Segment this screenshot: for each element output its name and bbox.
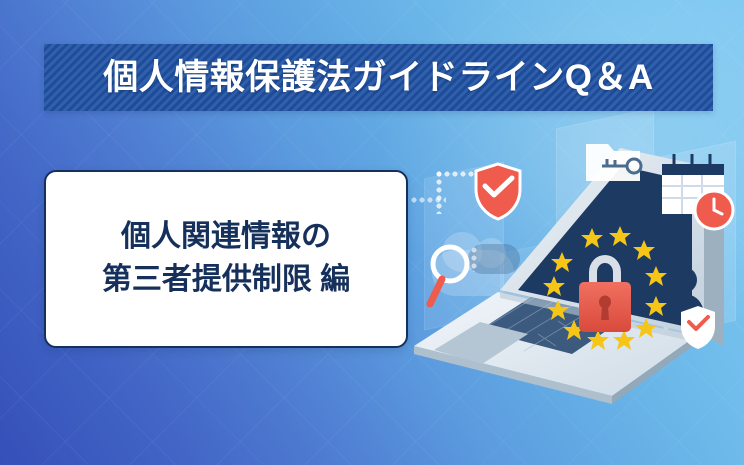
shield-check-icon xyxy=(476,164,520,219)
subtitle-line-1: 個人関連情報の xyxy=(121,216,331,259)
promo-banner-stage: 個人情報保護法ガイドラインQ＆A 個人関連情報の 第三者提供制限 編 xyxy=(0,0,744,465)
folder-key-icon xyxy=(586,144,641,181)
data-privacy-laptop-illustration xyxy=(406,140,744,410)
subtitle-line-2: 第三者提供制限 編 xyxy=(102,259,350,302)
magnifier-icon xyxy=(430,247,467,304)
subtitle-card: 個人関連情報の 第三者提供制限 編 xyxy=(44,170,408,348)
banner-title: 個人情報保護法ガイドラインQ＆A xyxy=(103,60,654,95)
title-banner: 個人情報保護法ガイドラインQ＆A xyxy=(44,44,713,111)
